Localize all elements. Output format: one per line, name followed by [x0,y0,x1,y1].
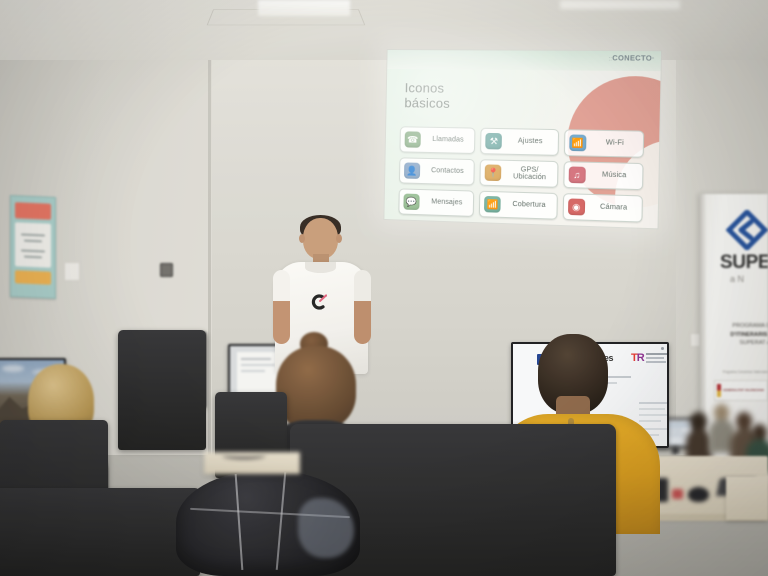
banner-footnote: Programa Convenios Valenciano Para Socie [704,370,768,374]
icon-card-wifi: 📶 Wi-Fi [564,129,645,158]
icon-card-label: Mensajes [424,199,469,208]
banner-text-line2-bold: D'ITINERARIS [730,332,767,338]
icon-card-label: Cámara [590,204,638,213]
presenter-collar [305,262,336,273]
conecto-logo: ::CONECTOº [609,55,655,63]
slide-title-line1: Iconos [405,80,451,96]
photo-scene: ::CONECTOº Iconos básicos ☎ Llamadas 👤 C… [0,0,768,576]
contact-person-icon: 👤 [404,162,420,178]
icon-card-musica: ♫ Música [563,161,644,190]
presenter-ear-right [336,234,342,243]
black-cap [176,470,360,576]
right-desk [726,476,768,520]
poster-body-block [15,222,51,268]
icon-card-label: Wi-Fi [591,139,639,148]
icon-card-label: Llamadas [426,136,471,144]
message-bubble-icon: 💬 [403,194,419,211]
tr-logo: TR [631,352,644,364]
icon-card-label: Contactos [425,167,470,176]
projection-screen: ::CONECTOº Iconos básicos ☎ Llamadas 👤 C… [384,50,661,228]
info-poster [10,195,56,299]
scissors [672,489,683,499]
wifi-icon: 📶 [569,134,586,151]
presenter-ear-left [299,234,305,243]
music-note-icon: ♫ [568,166,585,183]
icon-column-3: 📶 Wi-Fi ♫ Música ◉ Cámara [562,129,644,222]
icon-card-mensajes: 💬 Mensajes [398,188,474,217]
icon-card-label: Ajustes [507,138,553,146]
icon-column-2: ⚒ Ajustes 📍 GPS/ Ubicación 📶 Cobertura [479,128,559,220]
banner-text-line3: SUPERAT A [705,339,768,348]
slide-title: Iconos básicos [404,80,450,111]
chair-mid-left [118,330,206,450]
conecto-logo-text: CONECTO [612,55,652,63]
attendee-hair [276,346,356,430]
icon-card-llamadas: ☎ Llamadas [400,126,476,154]
banner-subtitle: a N [730,274,744,284]
wall-mounted-box [64,262,80,281]
chair-far-left-front [0,488,200,576]
presenter-arm-left [273,270,290,344]
banner-text-block: PROGRAMA D'IM D'ITINERARIS D'IN SUPERAT … [705,322,768,348]
desk-cable [222,452,266,459]
generalitat-valenciana-logo: GENERALITAT VALENCIANA [714,380,768,401]
icon-grid: ☎ Llamadas 👤 Contactos 💬 Mensajes ⚒ Ajus… [398,126,644,222]
camera-icon: ◉ [568,198,585,215]
icon-card-cobertura: 📶 Cobertura [479,191,557,220]
wall-corner [208,34,211,464]
map-pin-icon: 📍 [485,164,502,181]
banner-text-line1: PROGRAMA D'IM [705,322,768,331]
ceiling-light-secondary [560,0,680,9]
icon-card-camara: ◉ Cámara [562,193,643,222]
phone-icon: ☎ [405,131,421,147]
slide-title-line2: básicos [404,96,450,112]
tools-settings-icon: ⚒ [486,133,503,150]
icon-card-label: Música [591,171,639,180]
sponsor-logo-text: GENERALITAT VALENCIANA [723,389,764,393]
signal-bars-icon: 📶 [484,196,501,213]
presenter-arm-right [354,270,371,344]
ceiling-light [258,0,350,16]
icon-card-contactos: 👤 Contactos [399,157,475,185]
computer-mouse [688,487,709,502]
icon-column-1: ☎ Llamadas 👤 Contactos 💬 Mensajes [398,126,475,217]
icon-card-ajustes: ⚒ Ajustes [480,128,558,156]
banner-logo-icon [726,210,768,250]
icon-card-label: Cobertura [506,201,552,210]
c-target-logo-icon [309,292,329,312]
poster-header-block [15,202,51,220]
icon-card-gps-ubicacion: 📍 GPS/ Ubicación [480,159,558,188]
presenter-head [303,218,338,259]
poster-footer-block [15,270,51,285]
icon-card-label: GPS/ Ubicación [507,166,553,182]
wall-speaker-icon [160,263,173,277]
banner-brand: SUPER [720,252,768,274]
